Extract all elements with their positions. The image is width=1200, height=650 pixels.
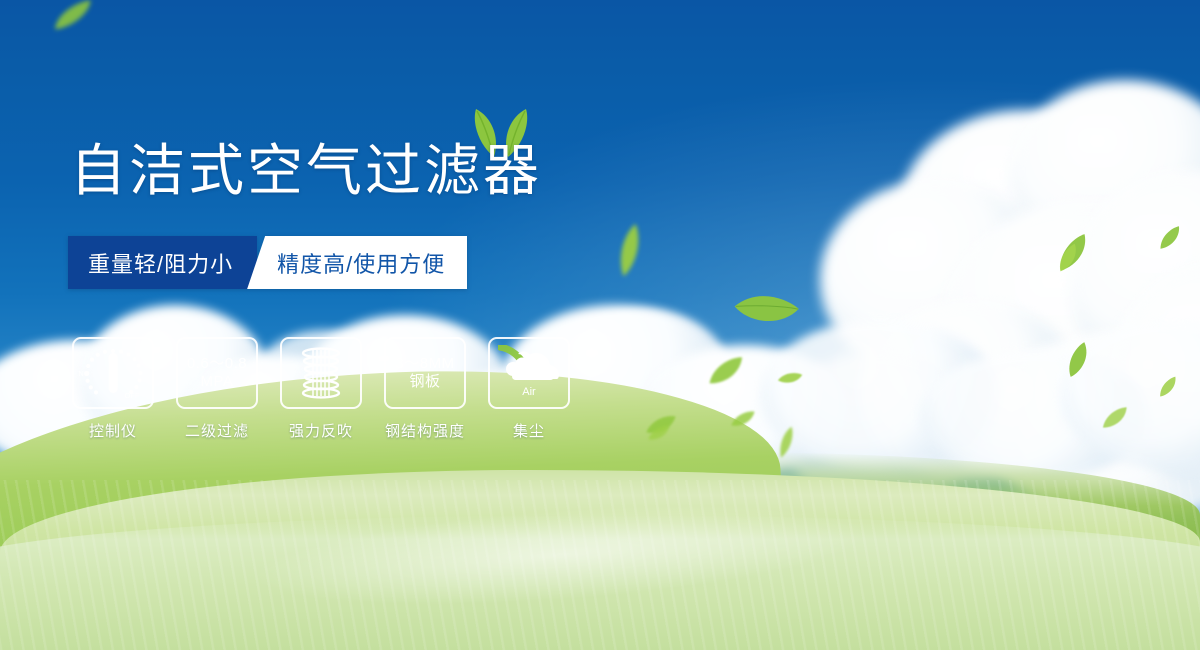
feature-box-text: 0.6〜0.8 MPA [187,355,247,390]
coil-filter-icon [295,345,347,401]
feature-icon-box: NO OFF [72,337,154,409]
feature-box-line2: 钢板 [395,373,454,391]
feature-box-line1: 0.6〜0.8 [187,355,247,372]
feature-label: 集尘 [513,420,545,441]
feature-item-backblow[interactable]: 强力反吹 [280,337,362,441]
feature-item-filtration[interactable]: 0.6〜0.8 MPA 二级过滤 [176,337,258,441]
gauge-on-label: NO [79,369,90,378]
feature-box-line1: 3〜8MM [395,355,454,372]
feature-box-text: 3〜8MM 钢板 [395,355,454,390]
feature-label: 钢结构强度 [385,420,465,441]
subtitle-left: 重量轻/阻力小 [68,236,257,289]
feature-icon-box: 0.6〜0.8 MPA [176,337,258,409]
banner-content: 自洁式空气过滤器 重量轻/阻力小 精度高/使用方便 [0,0,1200,650]
feature-icon-box: Air [488,337,570,409]
feature-item-controller[interactable]: NO OFF 控制仪 [72,337,154,441]
subtitle-banner: 重量轻/阻力小 精度高/使用方便 [68,236,467,289]
feature-icon-box [280,337,362,409]
feature-label: 控制仪 [89,420,137,441]
hero-banner: 自洁式空气过滤器 重量轻/阻力小 精度高/使用方便 [0,0,1200,650]
feature-label: 二级过滤 [185,420,249,441]
subtitle-right: 精度高/使用方便 [247,236,467,289]
feature-item-steel[interactable]: 3〜8MM 钢板 钢结构强度 [384,337,466,441]
air-cloud-icon: Air [498,345,560,401]
gauge-icon: NO OFF [79,343,147,403]
feature-icon-box: 3〜8MM 钢板 [384,337,466,409]
feature-label: 强力反吹 [289,420,353,441]
feature-box-line2: MPA [187,373,247,391]
gauge-off-label: OFF [125,391,140,400]
feature-item-dust[interactable]: Air 集尘 [488,337,570,441]
page-title: 自洁式空气过滤器 [70,143,542,199]
feature-list: NO OFF 控制仪 0.6〜0.8 MPA 二级过滤 [72,337,570,441]
cloud-caption: Air [522,386,536,398]
